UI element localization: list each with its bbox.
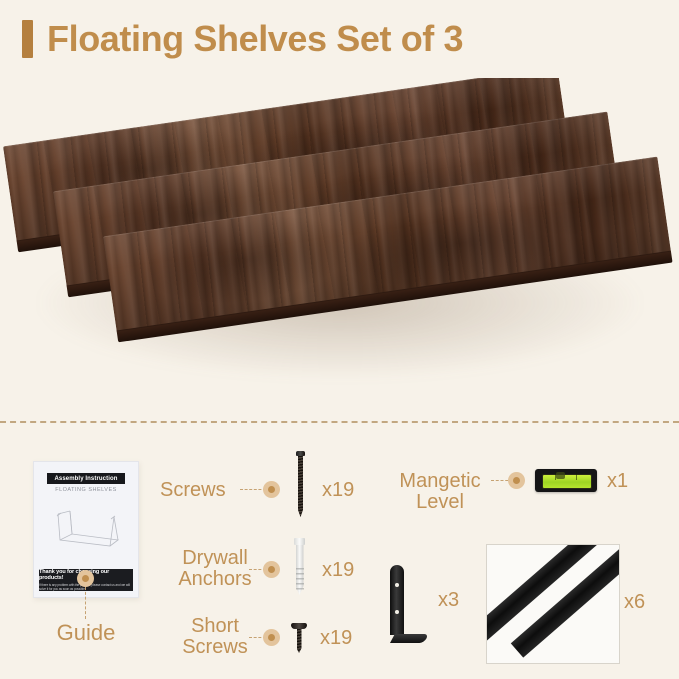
magnetic-level-line2: Level — [385, 492, 495, 513]
drywall-anchors-connector-dot — [263, 561, 280, 578]
drywall-anchors-line1: Drywall — [160, 548, 270, 569]
part-qty-drywall-anchors: x19 — [322, 559, 354, 582]
parts-list: Assembly Instruction FLOATING SHELVES Th… — [0, 424, 679, 679]
part-qty-magnetic-level: x1 — [607, 470, 628, 493]
magnetic-level-connector-dot — [508, 472, 525, 489]
title-accent-bar — [22, 20, 33, 58]
header: Floating Shelves Set of 3 — [0, 0, 679, 78]
part-label-guide: Guide — [36, 621, 136, 644]
short-screws-connector-dot — [263, 629, 280, 646]
l-bracket-icon — [382, 565, 420, 643]
page-title: Floating Shelves Set of 3 — [47, 18, 463, 60]
magnetic-level-line1: Mangetic — [385, 471, 495, 492]
product-hero-image — [0, 78, 679, 418]
short-screw-icon — [291, 623, 307, 653]
part-label-screws: Screws — [160, 480, 226, 501]
part-qty-flat-bracket: x6 — [624, 591, 645, 614]
section-divider — [0, 421, 679, 423]
infographic-page: Floating Shelves Set of 3 Assembly Instr… — [0, 0, 679, 679]
part-qty-l-bracket: x3 — [438, 589, 459, 612]
booklet-subtitle: FLOATING SHELVES — [34, 487, 138, 493]
part-qty-short-screws: x19 — [320, 627, 352, 650]
shelf-line-drawing — [48, 500, 124, 558]
guide-connector-dot — [77, 570, 94, 587]
short-screws-line2: Screws — [160, 637, 270, 658]
drywall-anchor-icon — [294, 538, 305, 595]
part-qty-screws: x19 — [322, 479, 354, 502]
screws-connector-dot — [263, 481, 280, 498]
short-screws-line1: Short — [160, 616, 270, 637]
magnetic-level-icon — [535, 469, 597, 492]
flat-bracket-pair-icon — [486, 544, 620, 664]
drywall-anchors-line2: Anchors — [160, 569, 270, 590]
booklet-banner-title: Assembly Instruction — [47, 473, 125, 484]
part-label-magnetic-level: Mangetic Level — [385, 471, 495, 513]
long-wood-screw-icon — [296, 451, 305, 517]
guide-leader-line — [85, 587, 86, 619]
